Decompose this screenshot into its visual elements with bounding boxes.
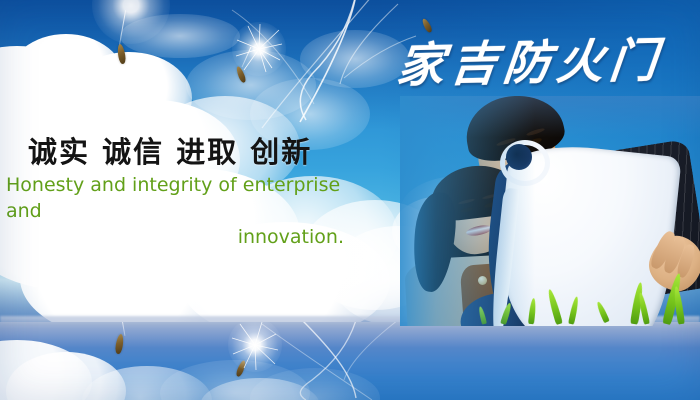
swoosh-trails-reflection xyxy=(0,322,700,400)
slogan-english-line2: innovation. xyxy=(6,224,344,250)
dandelion-rays xyxy=(232,22,286,76)
promo-banner: 家吉防火门 诚实 诚信 进取 创新 Honesty and integrity … xyxy=(0,0,700,400)
slogan-chinese: 诚实 诚信 进取 创新 xyxy=(28,129,312,171)
paper-curl xyxy=(506,144,532,170)
reflection-layer xyxy=(0,322,700,400)
dandelion-rays-reflection xyxy=(228,322,282,372)
brand-calligraphy: 家吉防火门 xyxy=(394,21,667,96)
slogan-english-line1: Honesty and integrity of enterprise and xyxy=(6,172,344,224)
slogan-english: Honesty and integrity of enterprise and … xyxy=(6,172,344,250)
woman-necklace xyxy=(478,276,487,285)
